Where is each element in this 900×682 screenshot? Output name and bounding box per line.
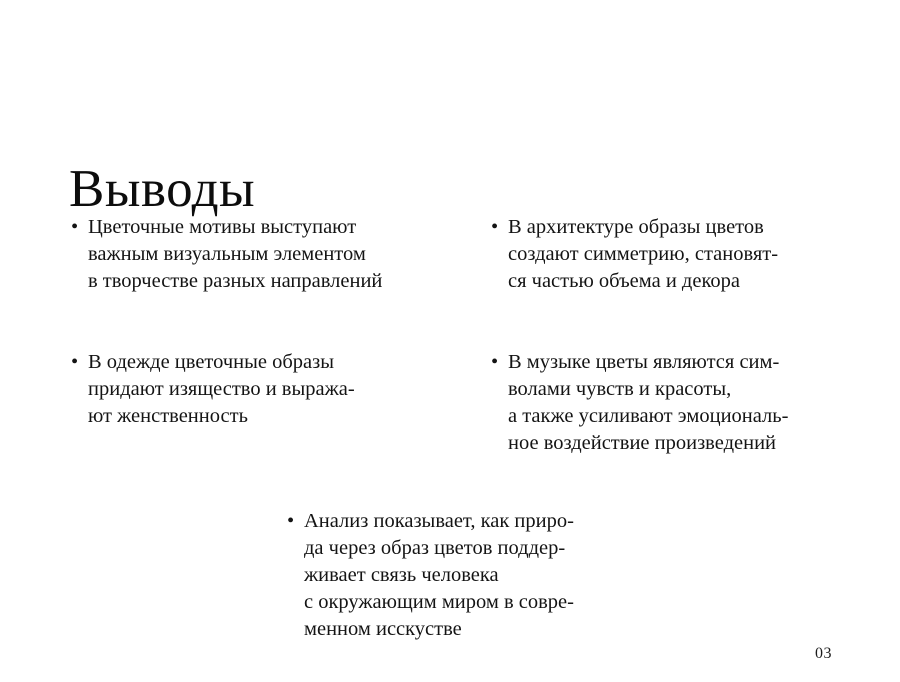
bullet-text-line: волами чувств и красоты, <box>508 376 851 403</box>
bullet-text-line: ное воздействие произведений <box>508 430 851 457</box>
bullet-text-line: менном исскустве <box>304 616 687 643</box>
bullet-text: В музыке цветы являются сим-волами чувст… <box>508 349 851 457</box>
bullet-text-line: с окружающим миром в совре- <box>304 589 687 616</box>
bullet-text: В одежде цветочные образыпридают изящест… <box>88 349 471 430</box>
bullet-text: Анализ показывает, как приро-да через об… <box>304 508 687 643</box>
bullet-text-line: придают изящество и выража- <box>88 376 471 403</box>
bullet-text-line: создают симметрию, становят- <box>508 241 851 268</box>
bullet-item-clothing-images: •В одежде цветочные образыпридают изящес… <box>71 349 471 430</box>
bullet-marker-icon: • <box>491 349 508 376</box>
bullet-item-architecture-images: •В архитектуре образы цветовсоздают симм… <box>491 214 851 295</box>
bullet-text-line: важным визуальным элементом <box>88 241 471 268</box>
bullet-text: Цветочные мотивы выступаютважным визуаль… <box>88 214 471 295</box>
bullet-item-flower-motifs-art: •Цветочные мотивы выступаютважным визуал… <box>71 214 471 295</box>
bullet-item-analysis-nature: •Анализ показывает, как приро-да через о… <box>287 508 687 643</box>
page-number: 03 <box>815 644 832 664</box>
bullet-text-line: в творчестве разных направлений <box>88 268 471 295</box>
bullet-text-line: В архитектуре образы цветов <box>508 214 851 241</box>
bullet-text-line: В одежде цветочные образы <box>88 349 471 376</box>
bullet-item-music-symbols: •В музыке цветы являются сим-волами чувс… <box>491 349 851 457</box>
page-title: Выводы <box>69 160 255 218</box>
bullet-marker-icon: • <box>71 349 88 376</box>
slide-conclusions: Выводы •Цветочные мотивы выступаютважным… <box>0 0 900 682</box>
bullet-text-line: да через образ цветов поддер- <box>304 535 687 562</box>
bullet-text-line: ют женственность <box>88 403 471 430</box>
bullet-marker-icon: • <box>71 214 88 241</box>
bullet-text-line: Цветочные мотивы выступают <box>88 214 471 241</box>
bullet-text-line: а также усиливают эмоциональ- <box>508 403 851 430</box>
bullet-text-line: живает связь человека <box>304 562 687 589</box>
bullet-marker-icon: • <box>287 508 304 535</box>
bullet-text: В архитектуре образы цветовсоздают симме… <box>508 214 851 295</box>
bullet-marker-icon: • <box>491 214 508 241</box>
bullet-text-line: В музыке цветы являются сим- <box>508 349 851 376</box>
bullet-text-line: ся частью объема и декора <box>508 268 851 295</box>
bullet-text-line: Анализ показывает, как приро- <box>304 508 687 535</box>
